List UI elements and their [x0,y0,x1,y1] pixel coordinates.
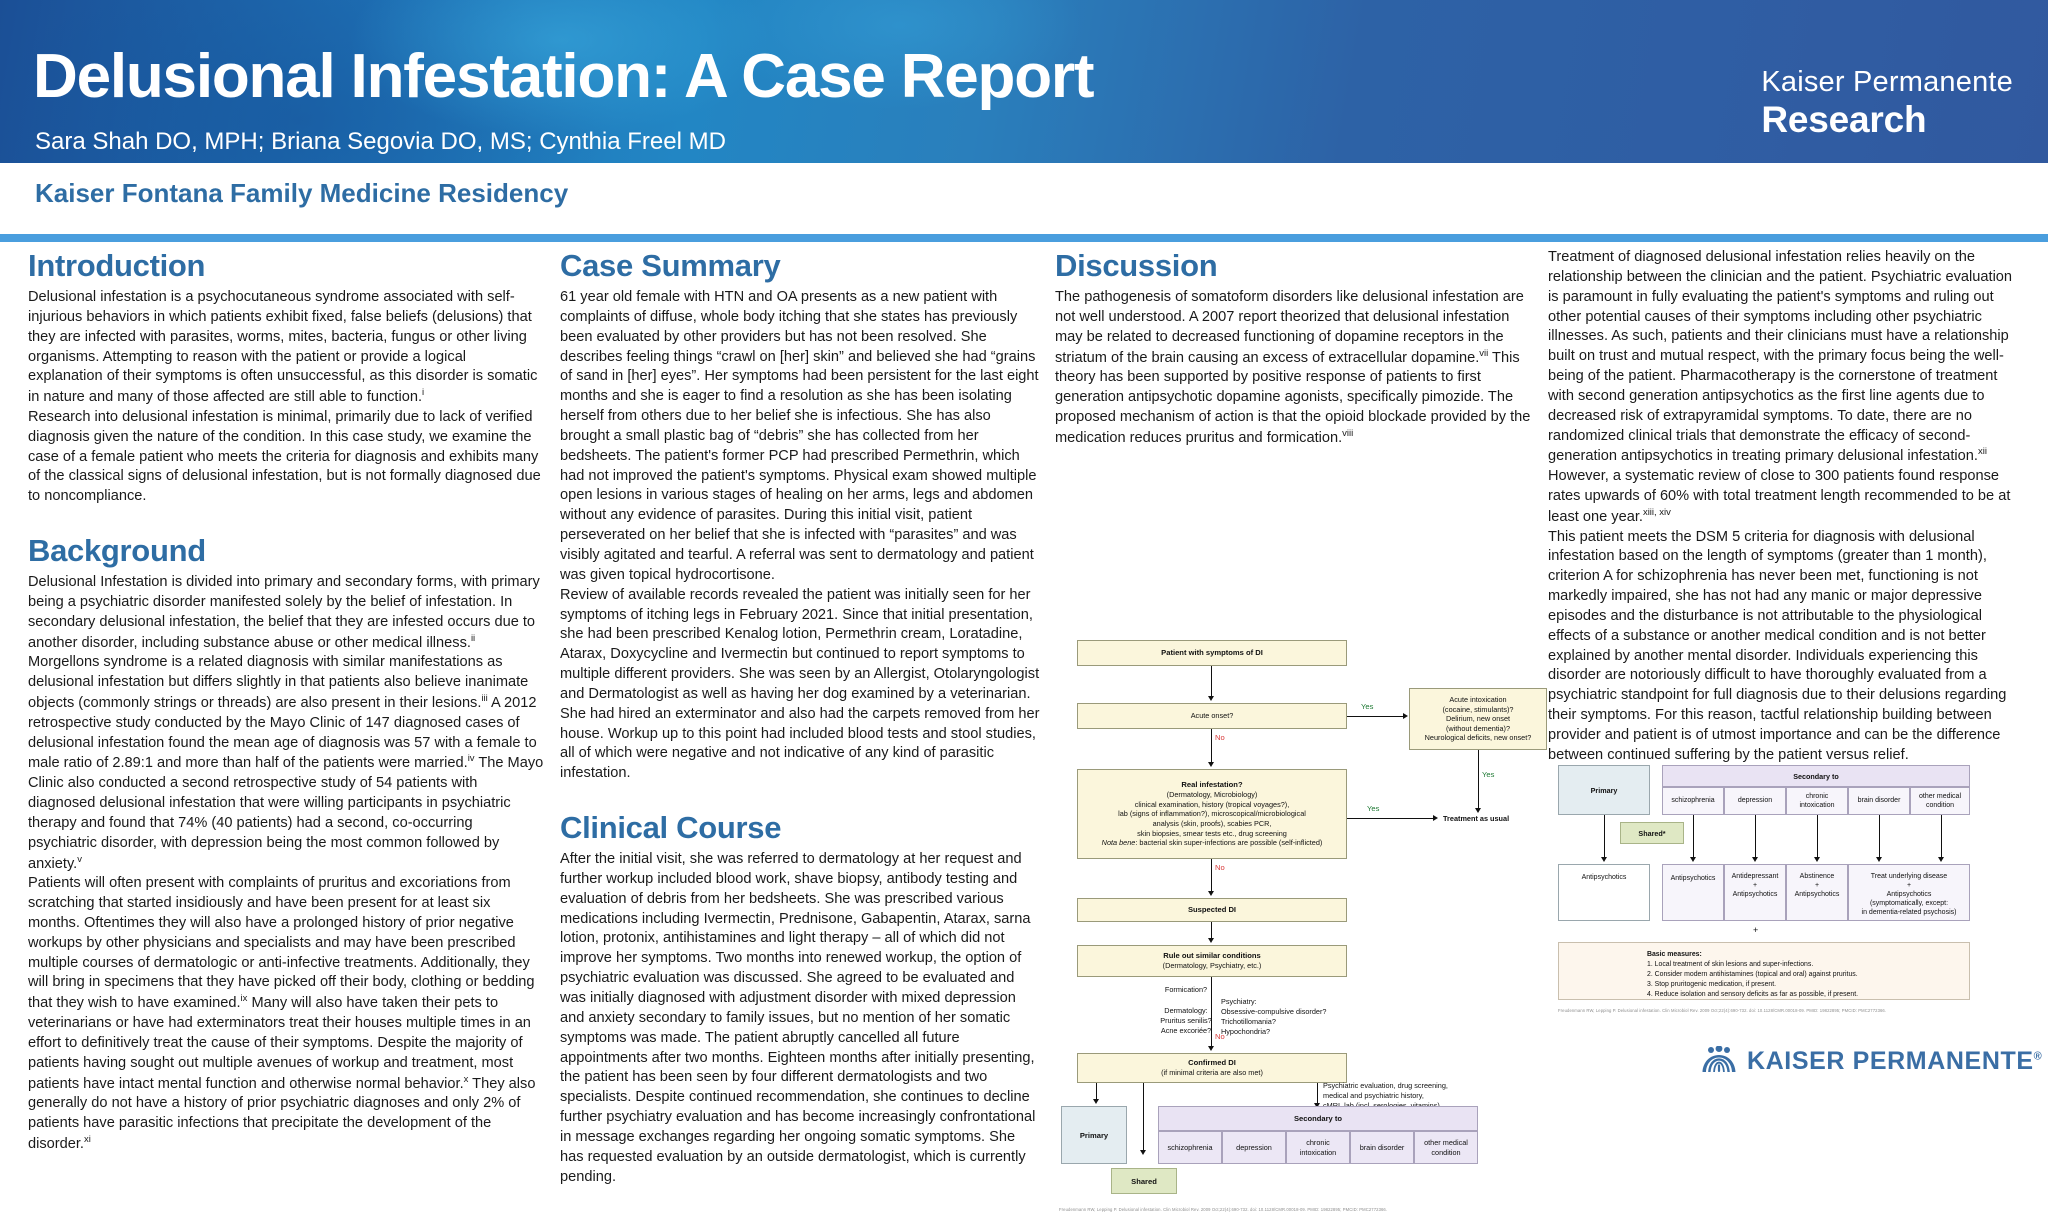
branch-label-no: No [1215,1032,1225,1041]
reference-marker: v [77,854,82,865]
arrow-down-icon [1208,938,1214,943]
page-title: Delusional Infestation: A Case Report [33,41,1093,112]
flow-node-title: Real infestation? [1181,780,1242,790]
flow-node-suspected-di: Suspected DI [1077,898,1347,922]
connector-line [1143,1083,1144,1152]
workup-line: Psychiatric evaluation, drug screening, [1323,1081,1463,1091]
reference-marker: xiii, xiv [1643,507,1671,518]
column-discussion: Discussion The pathogenesis of somatofor… [1055,248,1535,448]
flow-node-line: Delirium, new onset [1446,714,1510,724]
connector-line [1941,815,1942,859]
arrow-down-icon [1475,808,1481,813]
treat-cell: Abstinence + Antipsychotics [1786,864,1848,921]
flow-node-confirmed-di: Confirmed DI (if minimal criteria are al… [1077,1053,1347,1083]
section-heading-case-summary: Case Summary [560,248,1040,284]
flow-secondary-cell: chronic intoxication [1286,1131,1350,1164]
psych-line: Trichotillomania? [1221,1017,1351,1027]
reference-marker: ii [471,633,475,644]
connector-line [1604,815,1605,859]
treat-secondary-cell: chronic intoxication [1786,787,1848,815]
treat-secondary-cell: brain disorder [1848,787,1910,815]
treat-cell: Antipsychotics [1662,864,1724,921]
flow-node-line: lab (signs of inflammation?), microscopi… [1118,809,1306,819]
connector-line [1211,666,1212,698]
arrow-right-icon [1403,713,1408,719]
connector-line [1347,818,1435,819]
flow-node-line: Neurological deficits, new onset? [1425,733,1532,743]
brand-text: KAISER PERMANENTE [1747,1047,2034,1075]
treat-cell: Antidepressant + Antipsychotics [1724,864,1786,921]
connector-line [1755,815,1756,859]
case-summary-paragraph-2: Review of available records revealed the… [560,586,1040,784]
psych-line: Hypochondria? [1221,1027,1351,1037]
flow-node-primary: Primary [1061,1106,1127,1164]
flow-node-label: Acute onset? [1191,711,1234,721]
arrow-down-icon [1093,1099,1099,1104]
arrow-down-icon [1601,857,1607,862]
branch-label-yes: Yes [1361,702,1373,711]
flow-secondary-cell: schizophrenia [1158,1131,1222,1164]
basic-measure-item: 1. Local treatment of skin lesions and s… [1647,960,1969,970]
plus-sign: + [1753,925,1758,935]
disc-p2-a: Treatment of diagnosed delusional infest… [1548,249,2012,464]
treat-secondary-header: Secondary to [1662,765,1970,787]
nota-bene-text: : bacterial skin super-infections are po… [1135,838,1322,847]
flow-node-title: Confirmed DI [1188,1058,1236,1068]
treat-node-primary: Primary [1558,765,1650,815]
branch-label-no: No [1215,863,1225,872]
discussion-paragraph-1: The pathogenesis of somatoform disorders… [1055,288,1535,448]
treat-secondary-cell: depression [1724,787,1786,815]
differential-dermatology-group: Formication? Dermatology: Pruritus senil… [1155,985,1217,1036]
connector-line [1211,859,1212,893]
derm-line: Formication? [1155,985,1217,995]
reference-marker: iv [468,753,475,764]
bg-p1-a: Delusional Infestation is divided into p… [28,574,540,650]
connector-line [1478,750,1479,810]
section-heading-background: Background [28,533,544,569]
workup-line: medical and psychiatric history, [1323,1091,1463,1101]
flow-node-real-infestation: Real infestation? (Dermatology, Microbio… [1077,769,1347,859]
connector-line [1817,815,1818,859]
case-summary-paragraph-1: 61 year old female with HTN and OA prese… [560,288,1040,586]
intro-p1-text: Delusional infestation is a psychocutane… [28,289,537,405]
section-heading-clinical-course: Clinical Course [560,810,1040,846]
branch-label-no: No [1215,733,1225,742]
diagnostic-algorithm-figure: Patient with symptoms of DI Acute onset?… [1055,640,1550,1140]
arrow-down-icon [1690,857,1696,862]
flow-node-line: skin biopsies, smear tests etc., drug sc… [1137,829,1287,839]
differential-psychiatry-group: Psychiatry: Obsessive-compulsive disorde… [1221,997,1351,1037]
psych-line: Psychiatry: [1221,997,1351,1007]
flow-node-line: (Dermatology, Psychiatry, etc.) [1163,961,1262,971]
reference-marker: xii [1978,446,1987,457]
branch-label-yes: Yes [1367,804,1379,813]
treat-primary-treatment: Antipsychotics [1558,864,1650,921]
flow-node-line: clinical examination, history (tropical … [1135,800,1290,810]
flow-node-acute-intoxication: Acute intoxication (cocaine, stimulants)… [1409,688,1547,750]
flow-node-acute-onset: Acute onset? [1077,703,1347,729]
affiliation-text: Kaiser Fontana Family Medicine Residency [35,178,568,209]
flow-node-line: analysis (skin, proofs), scabies PCR, [1153,819,1272,829]
registered-mark: ® [2034,1050,2043,1062]
derm-line: Dermatology: [1155,1006,1217,1016]
introduction-paragraph-1: Delusional infestation is a psychocutane… [28,288,544,408]
derm-line: Pruritus senilis? [1155,1016,1217,1026]
figure-citation: Freudenmann RW, Lepping P. Delusional in… [1059,1207,1387,1212]
column-discussion-continued: Treatment of diagnosed delusional infest… [1548,248,2020,766]
flow-node-line: Nota bene: bacterial skin super-infectio… [1102,838,1323,848]
nota-bene-label: Nota bene [1102,838,1136,847]
accent-divider [0,234,2048,242]
branch-label-yes: Yes [1482,770,1494,779]
flow-node-rule-out: Rule out similar conditions (Dermatology… [1077,945,1347,977]
background-paragraph-2: Patients will often present with complai… [28,874,544,1154]
background-paragraph-1: Delusional Infestation is divided into p… [28,573,544,874]
derm-line: Acne excoriée? [1155,1026,1217,1036]
figure-citation: Freudenmann RW, Lepping P. Delusional in… [1558,1008,1886,1013]
reference-marker: vii [1479,348,1488,359]
basic-measure-item: 2. Consider modern antihistamines (topic… [1647,970,1969,980]
kaiser-permanente-footer-logo: KAISER PERMANENTE® [1700,1046,2042,1076]
treat-node-shared: Shared* [1620,822,1684,844]
flow-node-treatment-as-usual: Treatment as usual [1443,814,1509,824]
poster-header: Delusional Infestation: A Case Report Sa… [0,0,2048,163]
flow-node-line: (without dementia)? [1446,724,1510,734]
connector-line [1879,815,1880,859]
basic-measure-item: 4. Reduce isolation and sensory deficits… [1647,990,1969,1000]
arrow-right-icon [1433,815,1438,821]
flow-secondary-cell: brain disorder [1350,1131,1414,1164]
treat-basic-measures-box: Basic measures: 1. Local treatment of sk… [1558,942,1970,1000]
treat-secondary-cell: schizophrenia [1662,787,1724,815]
kaiser-permanente-research-logo: Kaiser Permanente Research [1761,68,2013,138]
logo-line-2: Research [1761,101,2013,138]
disc-p1-a: The pathogenesis of somatoform disorders… [1055,289,1524,365]
arrow-down-icon [1876,857,1882,862]
arrow-down-icon [1814,857,1820,862]
connector-line [1347,716,1405,717]
psych-line: Obsessive-compulsive disorder? [1221,1007,1351,1017]
author-list: Sara Shah DO, MPH; Briana Segovia DO, MS… [35,128,726,156]
connector-line [1693,815,1694,859]
arrow-down-icon [1208,1046,1214,1051]
flow-node-title: Rule out similar conditions [1163,951,1260,961]
flow-secondary-cell: depression [1222,1131,1286,1164]
basic-measure-item: 3. Stop pruritogenic medication, if pres… [1647,980,1969,990]
flow-node-label: Suspected DI [1188,905,1236,915]
section-heading-discussion: Discussion [1055,248,1535,284]
basic-measures-title: Basic measures: [1647,950,1969,960]
column-introduction-background: Introduction Delusional infestation is a… [28,248,544,1155]
arrow-down-icon [1938,857,1944,862]
flow-node-label: Patient with symptoms of DI [1161,648,1263,658]
section-heading-introduction: Introduction [28,248,544,284]
reference-marker: xi [84,1134,91,1145]
kaiser-permanente-wordmark: KAISER PERMANENTE® [1747,1047,2042,1076]
treat-secondary-cell: other medical condition [1910,787,1970,815]
flow-node-line: (if minimal criteria are also met) [1161,1068,1263,1078]
bg-p2-a: Patients will often present with complai… [28,875,534,1011]
bg-p1-d: The Mayo Clinic also conducted a second … [28,755,543,871]
flow-secondary-cell: other medical condition [1414,1131,1478,1164]
arrow-down-icon [1208,762,1214,767]
flow-secondary-header: Secondary to [1158,1106,1478,1131]
discussion-paragraph-3: This patient meets the DSM 5 criteria fo… [1548,528,2020,766]
kaiser-permanente-thrive-icon [1700,1046,1738,1076]
treatment-algorithm-figure: Primary Secondary to schizophrenia depre… [1548,765,2020,1025]
connector-line [1211,729,1212,764]
flow-node-patient-symptoms: Patient with symptoms of DI [1077,640,1347,666]
reference-marker: i [422,387,424,398]
flow-node-line: (Dermatology, Microbiology) [1167,790,1258,800]
flow-node-shared: Shared [1111,1168,1177,1194]
logo-line-1: Kaiser Permanente [1761,68,2013,97]
arrow-down-icon [1208,891,1214,896]
connector-line [1317,1083,1318,1105]
introduction-paragraph-2: Research into delusional infestation is … [28,408,544,507]
flow-node-line: Acute intoxication [1449,695,1506,705]
column-case-summary-clinical-course: Case Summary 61 year old female with HTN… [560,248,1040,1187]
discussion-paragraph-2: Treatment of diagnosed delusional infest… [1548,248,2020,528]
treat-cell: Treat underlying disease + Antipsychotic… [1848,864,1970,921]
bg-p1-b: Morgellons syndrome is a related diagnos… [28,654,528,711]
arrow-down-icon [1208,696,1214,701]
reference-marker: viii [1342,428,1353,439]
flow-node-line: (cocaine, stimulants)? [1443,705,1514,715]
arrow-down-icon [1140,1150,1146,1155]
clinical-course-paragraph-1: After the initial visit, she was referre… [560,850,1040,1187]
arrow-down-icon [1752,857,1758,862]
connector-line [1211,977,1212,1048]
disc-p2-b: However, a systematic review of close to… [1548,468,2010,525]
